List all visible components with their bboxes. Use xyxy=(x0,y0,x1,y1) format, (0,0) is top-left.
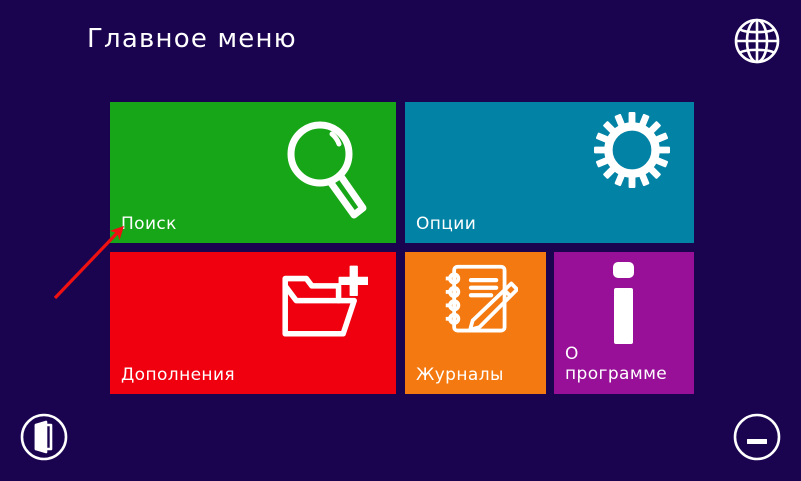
info-icon xyxy=(601,262,647,344)
tile-journals[interactable]: Журналы xyxy=(405,252,546,394)
tile-about-label: О программе xyxy=(565,344,667,384)
gear-icon xyxy=(594,112,670,188)
magnifier-icon xyxy=(282,116,368,222)
minimize-button[interactable] xyxy=(730,410,784,464)
globe-button[interactable] xyxy=(730,14,784,68)
exit-button[interactable] xyxy=(17,410,71,464)
main-menu-screen: Главное меню Поиск xyxy=(0,0,801,481)
tile-options-label: Опции xyxy=(416,214,476,234)
folder-plus-icon xyxy=(276,262,368,354)
notebook-pencil-icon xyxy=(434,260,518,344)
tile-search[interactable]: Поиск xyxy=(110,102,396,243)
tile-journals-label: Журналы xyxy=(416,365,504,385)
tile-about[interactable]: О программе xyxy=(554,252,694,394)
minus-circle-icon xyxy=(731,411,783,463)
tile-options[interactable]: Опции xyxy=(405,102,694,243)
globe-icon xyxy=(732,16,782,66)
exit-door-icon xyxy=(18,411,70,463)
tile-addons[interactable]: Дополнения xyxy=(110,252,396,394)
page-title: Главное меню xyxy=(87,26,297,52)
tile-search-label: Поиск xyxy=(121,214,177,234)
tile-addons-label: Дополнения xyxy=(121,365,235,385)
